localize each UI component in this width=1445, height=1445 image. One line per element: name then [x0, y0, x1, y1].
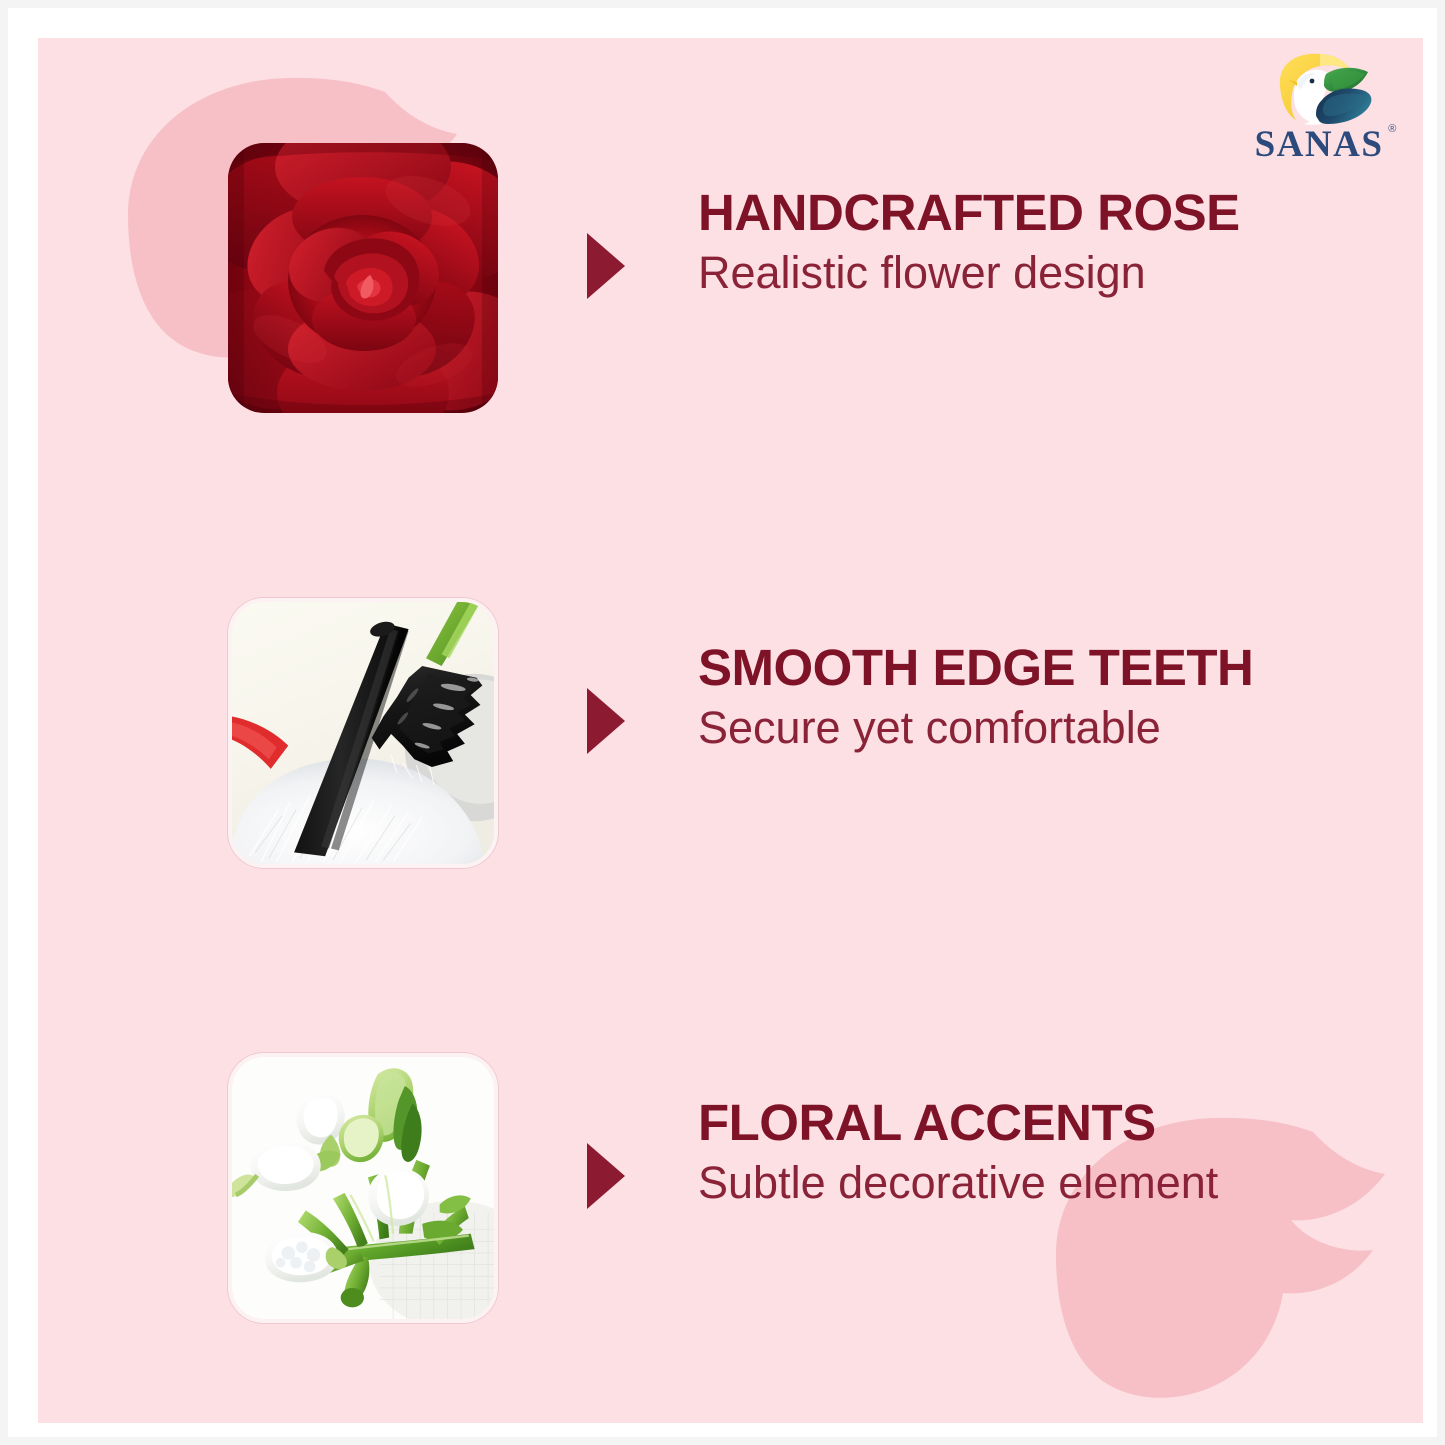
feature-subtitle: Realistic flower design: [698, 246, 1378, 299]
brand-logo: SANAS ®: [1243, 50, 1395, 170]
feature-subtitle: Secure yet comfortable: [698, 701, 1378, 754]
feature-image-rose: [228, 143, 498, 413]
feature-row-2: SMOOTH EDGE TEETH Secure yet comfortable: [38, 583, 1423, 883]
brand-name-text: SANAS: [1255, 126, 1384, 163]
registered-trademark-icon: ®: [1388, 124, 1396, 135]
feature-title: HANDCRAFTED ROSE: [698, 186, 1378, 240]
content-stage: HANDCRAFTED ROSE Realistic flower design: [38, 38, 1423, 1423]
feature-text-1: HANDCRAFTED ROSE Realistic flower design: [698, 186, 1378, 299]
feature-title: FLORAL ACCENTS: [698, 1096, 1378, 1150]
triangle-right-icon-2: [583, 686, 627, 756]
dove-leaf-logo-icon: [1264, 50, 1374, 126]
feature-title: SMOOTH EDGE TEETH: [698, 641, 1378, 695]
triangle-right-icon-1: [583, 231, 627, 301]
feature-row-3: FLORAL ACCENTS Subtle decorative element: [38, 1038, 1423, 1338]
white-frame: HANDCRAFTED ROSE Realistic flower design: [8, 8, 1437, 1437]
brand-wordmark: SANAS ®: [1255, 126, 1384, 163]
feature-image-buds: [228, 1053, 498, 1323]
feature-image-clip: [228, 598, 498, 868]
infographic-canvas: HANDCRAFTED ROSE Realistic flower design: [0, 0, 1445, 1445]
feature-text-2: SMOOTH EDGE TEETH Secure yet comfortable: [698, 641, 1378, 754]
triangle-right-icon-3: [583, 1141, 627, 1211]
feature-row-1: HANDCRAFTED ROSE Realistic flower design: [38, 128, 1423, 428]
feature-subtitle: Subtle decorative element: [698, 1156, 1378, 1209]
feature-text-3: FLORAL ACCENTS Subtle decorative element: [698, 1096, 1378, 1209]
